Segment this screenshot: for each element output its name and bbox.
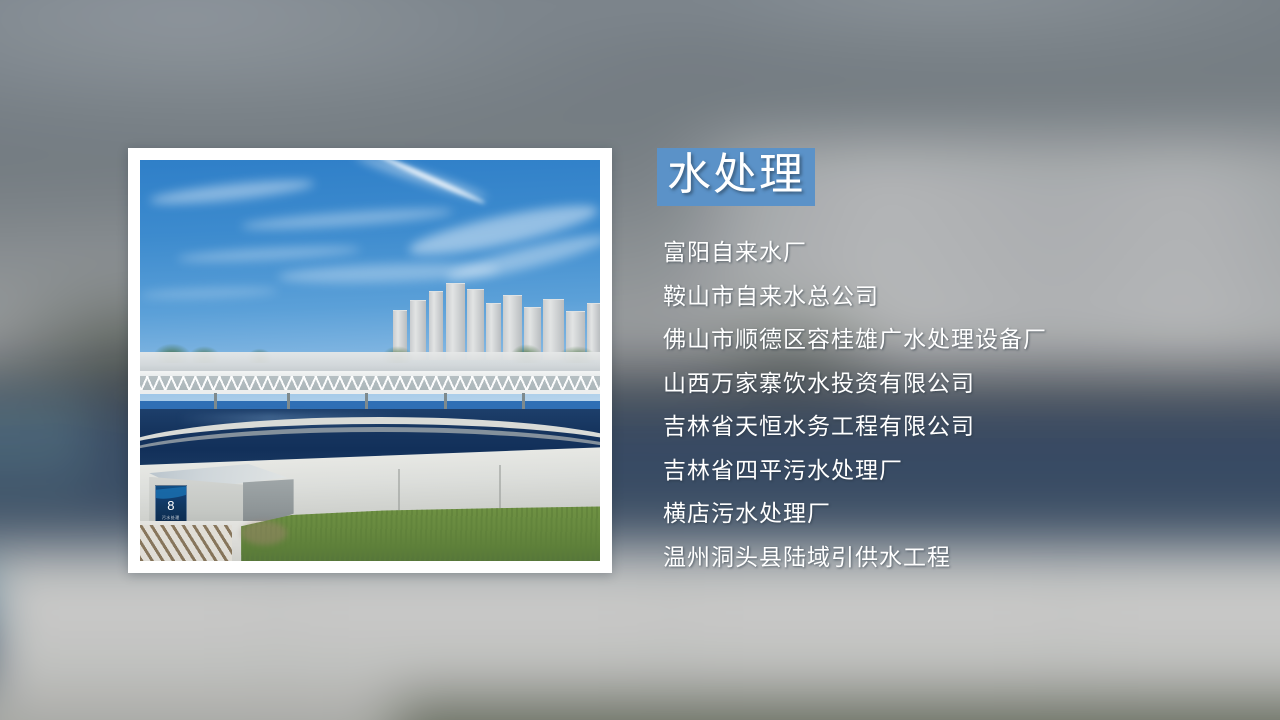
page-title-highlight: 水处理 — [657, 148, 815, 206]
photo-bridge-deck — [140, 390, 600, 394]
content-column: 水处理 富阳自来水厂 鞍山市自来水总公司 佛山市顺德区容桂雄广水处理设备厂 山西… — [657, 148, 1257, 580]
list-item[interactable]: 富阳自来水厂 — [663, 232, 1257, 276]
photo-water-treatment-plant: 8 污水处理 — [140, 160, 600, 561]
background-pavement — [0, 693, 397, 720]
background-water-left — [0, 394, 93, 497]
list-item[interactable]: 吉林省四平污水处理厂 — [663, 450, 1257, 494]
slide-canvas: 8 污水处理 水处理 富阳自来水厂 鞍山市自来水总公司 佛山市顺德区容桂雄广水处… — [0, 0, 1280, 720]
list-item[interactable]: 山西万家寨饮水投资有限公司 — [663, 363, 1257, 407]
photo-frame: 8 污水处理 — [128, 148, 612, 573]
list-item[interactable]: 佛山市顺德区容桂雄广水处理设备厂 — [663, 319, 1257, 363]
list-item[interactable]: 鞍山市自来水总公司 — [663, 276, 1257, 320]
photo-basin-number-sign: 8 污水处理 — [155, 485, 187, 525]
photo-drain-grate — [140, 525, 232, 561]
sign-number: 8 — [156, 499, 186, 512]
customer-list: 富阳自来水厂 鞍山市自来水总公司 佛山市顺德区容桂雄广水处理设备厂 山西万家寨饮… — [663, 232, 1257, 580]
list-item[interactable]: 吉林省天恒水务工程有限公司 — [663, 406, 1257, 450]
photo-truss-lattice — [140, 376, 600, 390]
list-item[interactable]: 横店污水处理厂 — [663, 493, 1257, 537]
page-title: 水处理 — [667, 152, 805, 198]
list-item[interactable]: 温州洞头县陆域引供水工程 — [663, 537, 1257, 581]
photo-grass-dry-patch — [241, 521, 287, 545]
